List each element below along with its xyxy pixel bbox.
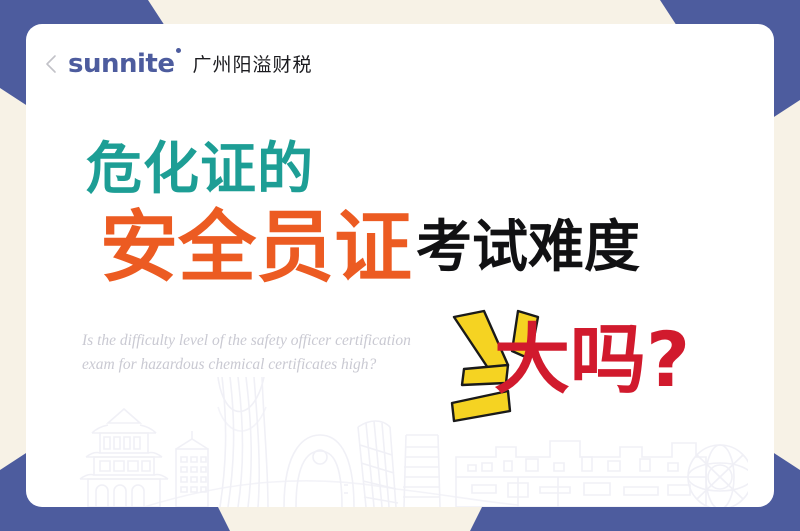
english-subtitle-line-1: Is the difficulty level of the safety of… xyxy=(82,329,462,353)
headline-block: 危化证的 安全员证 考试难度 大吗? xyxy=(26,142,774,442)
english-subtitle: Is the difficulty level of the safety of… xyxy=(82,329,462,377)
brand-name-cn: 广州阳溢财税 xyxy=(192,50,312,77)
brand-logo-dot-icon xyxy=(176,48,181,53)
headline-line-orange: 安全员证 xyxy=(100,209,412,287)
headline-line-teal: 危化证的 xyxy=(86,142,314,198)
content-card: sunnite 广州阳溢财税 危化证的 安全员证 考试难度 xyxy=(26,24,774,507)
header: sunnite 广州阳溢财税 xyxy=(44,50,313,77)
english-subtitle-line-2: exam for hazardous chemical certificates… xyxy=(82,353,462,377)
headline-line-black: 考试难度 xyxy=(416,220,640,276)
poster-root: sunnite 广州阳溢财税 危化证的 安全员证 考试难度 xyxy=(0,0,800,531)
back-chevron-icon[interactable] xyxy=(44,53,58,75)
brand-logo-text: sunnite xyxy=(68,49,174,79)
brand-logo: sunnite xyxy=(68,51,174,77)
headline-line-red: 大吗? xyxy=(494,322,690,398)
